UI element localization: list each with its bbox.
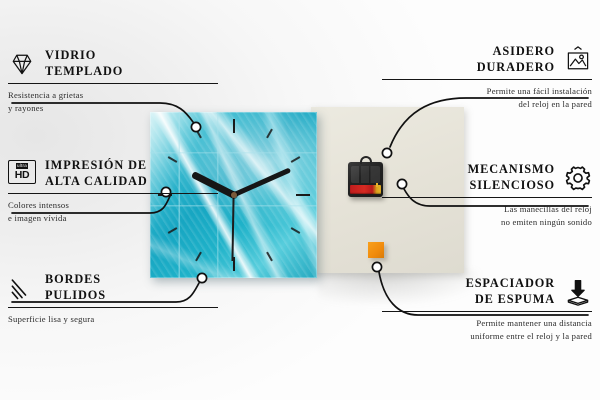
clock-tick-12	[233, 119, 235, 195]
feature-desc-line1: Las manecillas del reloj	[382, 203, 592, 215]
feature-header: MECANISMO SILENCIOSO	[382, 162, 592, 193]
foam-spacer	[368, 242, 384, 258]
feature-header: ultra HD IMPRESIÓN DE ALTA CALIDAD	[8, 158, 218, 189]
foam-spacer-icon	[564, 278, 592, 306]
feature-header: VIDRIO TEMPLADO	[8, 48, 218, 79]
feature-desc-line1: Permite una fácil instalación	[382, 85, 592, 97]
feature-title: ASIDERO DURADERO	[477, 44, 555, 75]
polished-edges-icon	[8, 274, 36, 302]
feature-divider	[382, 197, 592, 198]
feature-title: IMPRESIÓN DE ALTA CALIDAD	[45, 158, 148, 189]
feature-title-line1: MECANISMO	[468, 162, 555, 178]
feature-divider	[8, 307, 218, 308]
feature-bordes-pulidos: BORDES PULIDOS Superficie lisa y segura	[8, 272, 218, 326]
feature-divider	[8, 193, 218, 194]
feature-espaciador-de-espuma: ESPACIADOR DE ESPUMA Permite mantener un…	[382, 276, 592, 342]
diamond-icon	[8, 50, 36, 78]
ultra-hd-small-text: ultra	[16, 163, 29, 169]
feature-title-line1: BORDES	[45, 272, 106, 288]
ultra-hd-icon: ultra HD	[8, 160, 36, 188]
feature-desc-line1: Permite mantener una distancia	[382, 317, 592, 329]
feature-title-line2: TEMPLADO	[45, 64, 123, 80]
feature-header: ESPACIADOR DE ESPUMA	[382, 276, 592, 307]
aa-battery	[350, 185, 381, 194]
feature-title-line2: PULIDOS	[45, 288, 106, 304]
feature-desc-line2: del reloj en la pared	[382, 98, 592, 110]
feature-impresion-alta-calidad: ultra HD IMPRESIÓN DE ALTA CALIDAD Color…	[8, 158, 218, 224]
feature-vidrio-templado: VIDRIO TEMPLADO Resistencia a grietas y …	[8, 48, 218, 114]
feature-divider	[382, 79, 592, 80]
clock-tick-3	[234, 194, 310, 196]
feature-title-line1: ESPACIADOR	[466, 276, 555, 292]
feature-desc-line1: Superficie lisa y segura	[8, 313, 218, 325]
feature-desc-line2: uniforme entre el reloj y la pared	[382, 330, 592, 342]
feature-header: BORDES PULIDOS	[8, 272, 218, 303]
feature-desc-line1: Resistencia a grietas	[8, 89, 218, 101]
feature-title-line2: DURADERO	[477, 60, 555, 76]
feature-title: MECANISMO SILENCIOSO	[468, 162, 555, 193]
feature-title-line1: IMPRESIÓN DE	[45, 158, 148, 174]
feature-title-line2: SILENCIOSO	[468, 178, 555, 194]
ultra-hd-badge: ultra HD	[8, 160, 36, 184]
feature-divider	[8, 83, 218, 84]
feature-title-line2: ALTA CALIDAD	[45, 174, 148, 190]
feature-description: Colores intensos e imagen vívida	[8, 199, 218, 223]
feature-desc-line2: y rayones	[8, 102, 218, 114]
feature-desc-line2: e imagen vívida	[8, 212, 218, 224]
feature-description: Resistencia a grietas y rayones	[8, 89, 218, 113]
feature-asidero-duradero: ASIDERO DURADERO Permite una fácil insta…	[382, 44, 592, 110]
feature-title-line1: ASIDERO	[477, 44, 555, 60]
clock-movement	[348, 162, 383, 197]
clock-center-cap	[231, 192, 237, 198]
product-infographic: VIDRIO TEMPLADO Resistencia a grietas y …	[0, 0, 600, 400]
feature-description: Las manecillas del reloj no emiten ningú…	[382, 203, 592, 227]
ultra-hd-large-text: HD	[15, 170, 30, 181]
gear-icon	[564, 164, 592, 192]
feature-desc-line2: no emiten ningún sonido	[382, 216, 592, 228]
feature-divider	[382, 311, 592, 312]
wall-hanger-hook-icon	[360, 156, 372, 164]
feature-description: Superficie lisa y segura	[8, 313, 218, 325]
feature-title: BORDES PULIDOS	[45, 272, 106, 303]
feature-description: Permite una fácil instalación del reloj …	[382, 85, 592, 109]
picture-hanger-icon	[564, 46, 592, 74]
feature-description: Permite mantener una distancia uniforme …	[382, 317, 592, 341]
feature-title-line1: VIDRIO	[45, 48, 123, 64]
feature-title: VIDRIO TEMPLADO	[45, 48, 123, 79]
movement-housing-detail	[351, 166, 380, 183]
feature-title: ESPACIADOR DE ESPUMA	[466, 276, 555, 307]
feature-header: ASIDERO DURADERO	[382, 44, 592, 75]
feature-title-line2: DE ESPUMA	[466, 292, 555, 308]
feature-desc-line1: Colores intensos	[8, 199, 218, 211]
feature-mecanismo-silencioso: MECANISMO SILENCIOSO Las manecillas del …	[382, 162, 592, 228]
